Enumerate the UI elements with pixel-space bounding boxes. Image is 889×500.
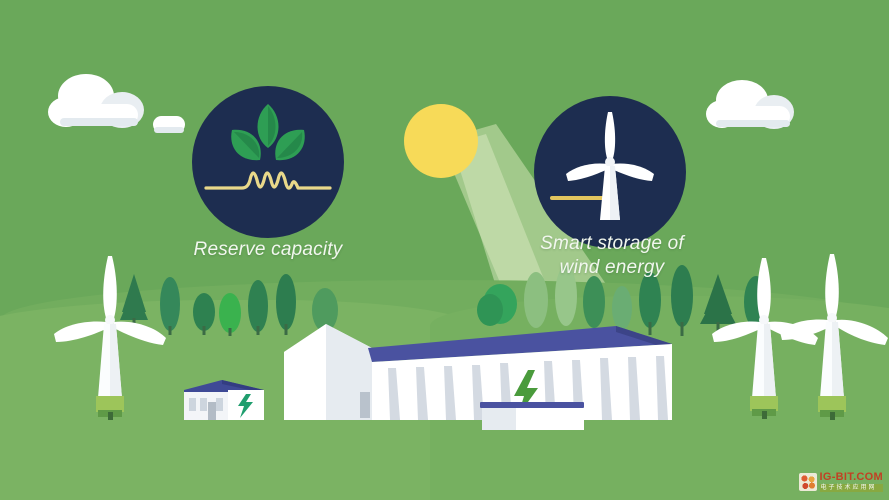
badge-reserve-capacity[interactable] bbox=[192, 86, 344, 238]
badge-smart-storage[interactable] bbox=[534, 96, 686, 248]
battery-container-unit[interactable] bbox=[478, 398, 588, 434]
badge-label-smart-storage: Smart storage of wind energy bbox=[512, 232, 712, 280]
cloud-right-large bbox=[702, 78, 802, 136]
ig-bit-watermark: IG-BIT.COM 电子技术应用网 bbox=[799, 472, 884, 492]
watermark-subtext: 电子技术应用网 bbox=[820, 484, 884, 492]
small-house[interactable] bbox=[176, 376, 272, 424]
cloud-left-large bbox=[46, 72, 156, 134]
cloud-left-small bbox=[152, 114, 186, 136]
wind-turbine-right-front bbox=[780, 250, 889, 425]
leaves-waveform-icon bbox=[192, 86, 344, 238]
sun bbox=[404, 104, 478, 178]
wind-turbine-icon bbox=[534, 96, 686, 248]
watermark-text: IG-BIT.COM bbox=[820, 472, 884, 483]
illustration-canvas: Reserve capacity Smart storage of wind e… bbox=[0, 0, 889, 500]
badge-label-reserve-capacity: Reserve capacity bbox=[168, 238, 368, 262]
wind-turbine-left bbox=[46, 250, 176, 425]
mosaic-logo-icon bbox=[799, 473, 817, 491]
